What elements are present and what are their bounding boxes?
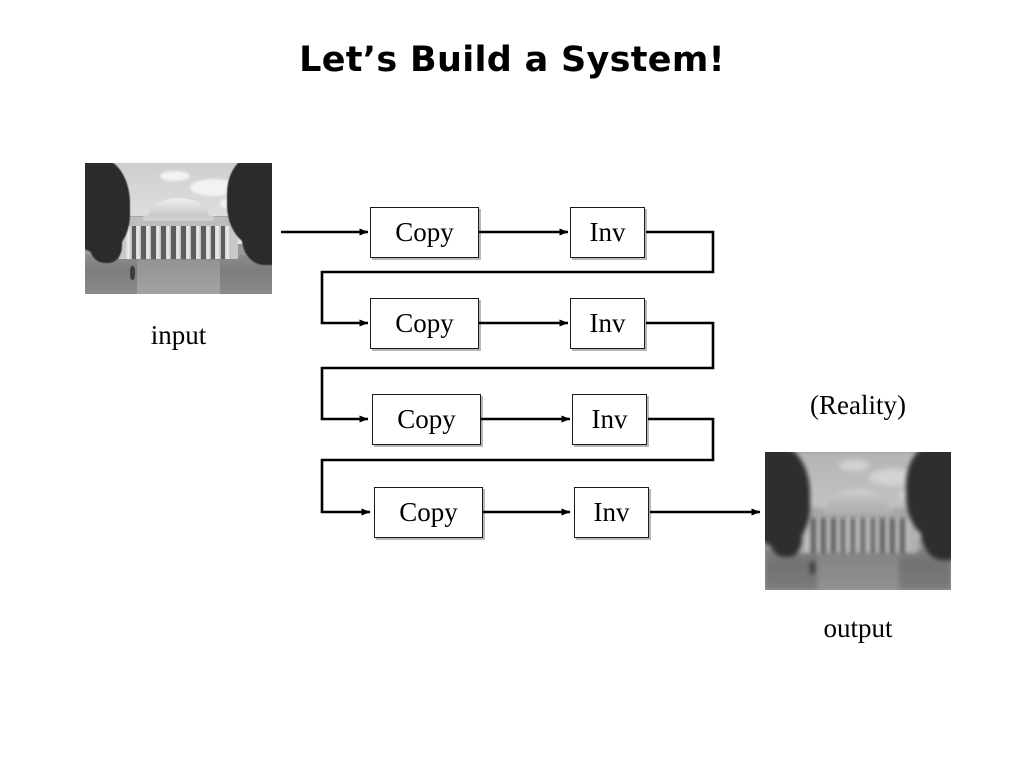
stage-2-copy-box[interactable]: Copy [370, 298, 479, 349]
stage-2-inv-box[interactable]: Inv [570, 298, 645, 349]
stage-1-inv-box[interactable]: Inv [570, 207, 645, 258]
system-diagram [0, 0, 1024, 768]
stage-3-copy-box[interactable]: Copy [372, 394, 481, 445]
stage-4-copy-box[interactable]: Copy [374, 487, 483, 538]
stage-3-inv-box[interactable]: Inv [572, 394, 647, 445]
stage-1-copy-box[interactable]: Copy [370, 207, 479, 258]
stage-4-inv-box[interactable]: Inv [574, 487, 649, 538]
